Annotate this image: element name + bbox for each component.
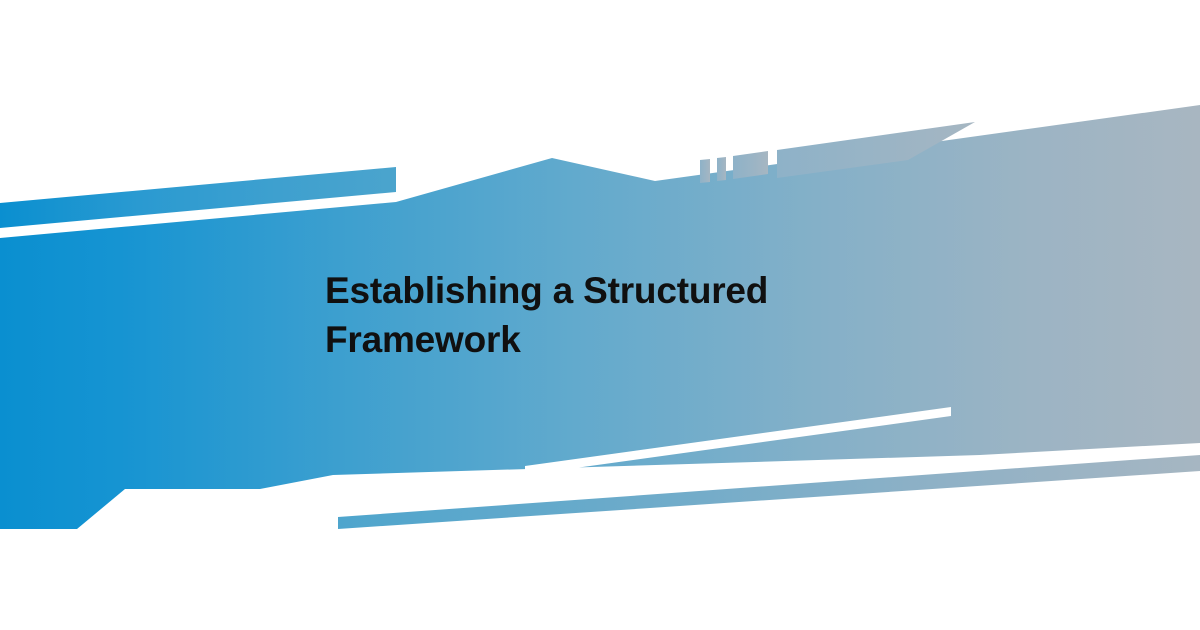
- top-dash-2-shape: [717, 157, 726, 181]
- main-gradient-panel-shape: [0, 105, 1200, 529]
- top-dash-1-shape: [700, 159, 710, 183]
- banner-background-art: [0, 0, 1200, 630]
- banner-canvas: Establishing a Structured Framework: [0, 0, 1200, 630]
